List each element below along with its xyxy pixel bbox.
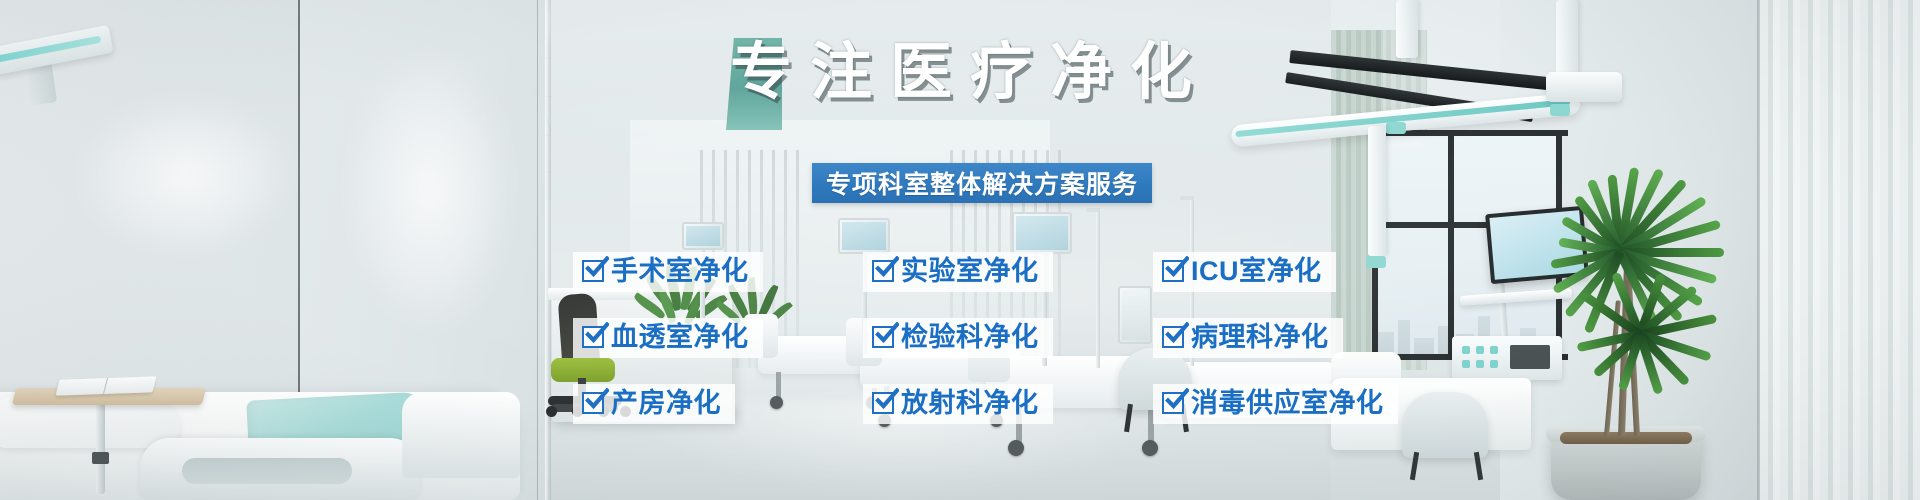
checklist-item-icu[interactable]: ICU室净化 (1153, 252, 1336, 292)
checklist-item-laboratory[interactable]: 实验室净化 (863, 252, 1053, 292)
checklist-item-label: ICU室净化 (1191, 258, 1322, 285)
check-square-icon (1162, 260, 1184, 282)
checklist-item-cssd[interactable]: 消毒供应室净化 (1153, 384, 1398, 424)
checklist-item-label: 病理科净化 (1191, 324, 1329, 351)
checklist-item-label: 实验室净化 (901, 258, 1039, 285)
checklist-item-label: 消毒供应室净化 (1191, 390, 1384, 417)
check-square-icon (582, 326, 604, 348)
check-square-icon (582, 260, 604, 282)
checklist-item-hemodialysis[interactable]: 血透室净化 (573, 318, 763, 358)
checklist-item-pathology[interactable]: 病理科净化 (1153, 318, 1343, 358)
check-square-icon (872, 392, 894, 414)
checklist-item-label: 检验科净化 (901, 324, 1039, 351)
checklist-item-label: 产房净化 (611, 390, 721, 417)
check-square-icon (1162, 326, 1184, 348)
medical-purification-banner: 专注医疗净化 专项科室整体解决方案服务 手术室净化 实验室净化 (0, 0, 1920, 500)
checklist-item-label: 放射科净化 (901, 390, 1039, 417)
check-square-icon (872, 260, 894, 282)
check-square-icon (582, 392, 604, 414)
checklist-item-label: 手术室净化 (611, 258, 749, 285)
checklist-item-delivery-room[interactable]: 产房净化 (573, 384, 735, 424)
checklist-item-label: 血透室净化 (611, 324, 749, 351)
banner-overlay: 专注医疗净化 专项科室整体解决方案服务 手术室净化 实验室净化 (0, 0, 1920, 500)
service-checklist: 手术室净化 实验室净化 ICU室净化 (0, 0, 1920, 500)
check-square-icon (872, 326, 894, 348)
checklist-item-clinical-lab[interactable]: 检验科净化 (863, 318, 1053, 358)
check-square-icon (1162, 392, 1184, 414)
checklist-item-operating-room[interactable]: 手术室净化 (573, 252, 763, 292)
checklist-item-radiology[interactable]: 放射科净化 (863, 384, 1053, 424)
